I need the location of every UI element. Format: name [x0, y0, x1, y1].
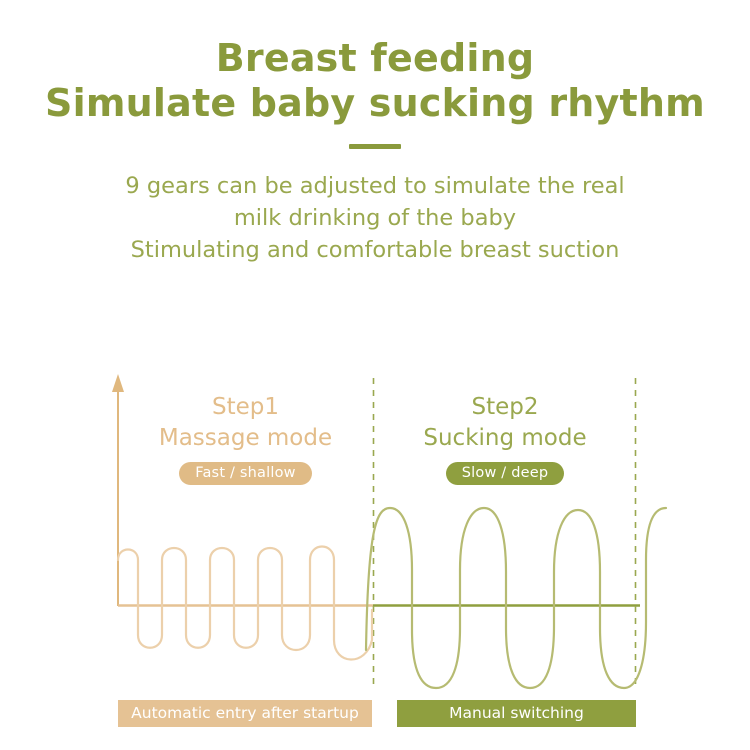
page-title-line-2: Simulate baby sucking rhythm: [0, 81, 750, 126]
step2-mode-label: Sucking mode: [375, 423, 635, 454]
step1-mode-label: Massage mode: [118, 423, 373, 454]
page-header: Breast feeding Simulate baby sucking rhy…: [0, 0, 750, 266]
step-block-step2: Step2 Sucking mode Slow / deep: [375, 392, 635, 485]
subtitle-line-1: 9 gears can be adjusted to simulate the …: [0, 171, 750, 203]
step-block-step1: Step1 Massage mode Fast / shallow: [118, 392, 373, 485]
title-divider: [349, 144, 401, 149]
footer-bar-manual-switching: Manual switching: [397, 700, 636, 727]
footer-bar-automatic-entry: Automatic entry after startup: [118, 700, 372, 727]
subtitle-line-3: Stimulating and comfortable breast sucti…: [0, 235, 750, 267]
waveform-sucking-mode: [366, 508, 666, 688]
page-subtitle: 9 gears can be adjusted to simulate the …: [0, 171, 750, 267]
step1-title: Step1: [118, 392, 373, 423]
title-divider-wrap: [0, 144, 750, 149]
subtitle-line-2: milk drinking of the baby: [0, 203, 750, 235]
page-title-line-1: Breast feeding: [0, 36, 750, 81]
step1-badge: Fast / shallow: [179, 462, 311, 485]
step2-title: Step2: [375, 392, 635, 423]
waveform-massage-mode: [118, 547, 372, 660]
step2-badge: Slow / deep: [446, 462, 565, 485]
